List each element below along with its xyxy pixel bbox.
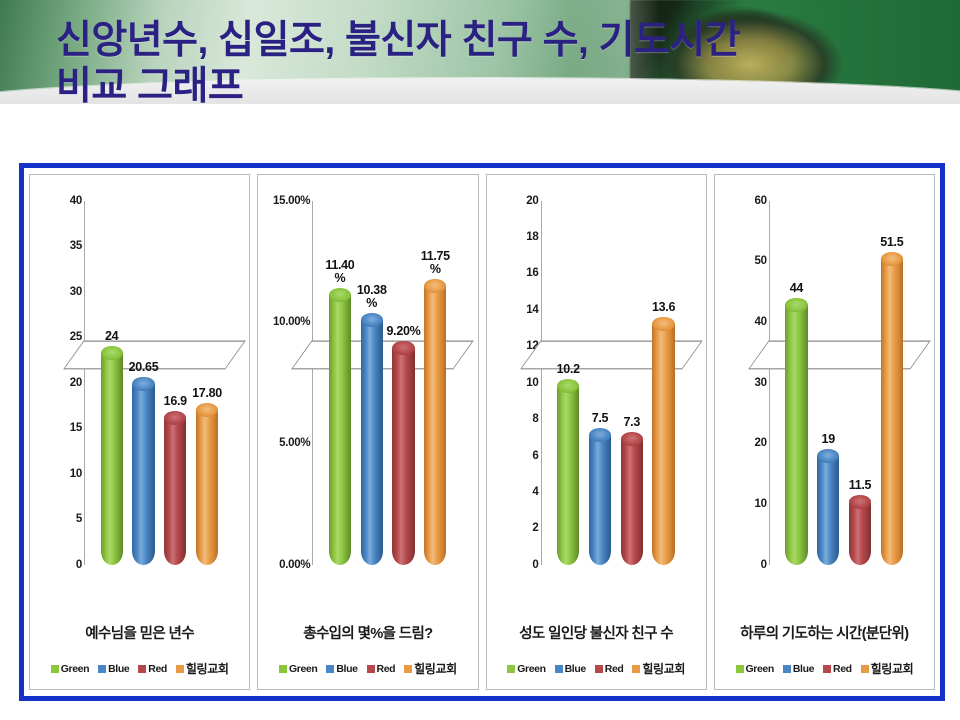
legend-item-Red[interactable]: Red <box>595 663 624 675</box>
legend-item-Red[interactable]: Red <box>367 663 396 675</box>
legend-label: 힐링교회 <box>414 660 457 677</box>
bar-body <box>361 320 383 565</box>
legend-item-Green[interactable]: Green <box>736 663 774 675</box>
legend-swatch-icon <box>138 665 146 673</box>
legend-swatch-icon <box>98 665 106 673</box>
legend-label: 힐링교회 <box>871 660 914 677</box>
x-axis-caption: 하루의 기도하는 시간(분단위) <box>715 622 934 643</box>
chart-panel-4[interactable]: 6050403020100441911.551.5하루의 기도하는 시간(분단위… <box>714 174 935 690</box>
legend-label: Green <box>289 663 317 675</box>
chart-legend: GreenBlueRed힐링교회 <box>715 660 934 677</box>
bar-cap <box>329 288 351 302</box>
bar-series: 441911.551.5 <box>715 175 934 601</box>
bar-value-label: 10.2 <box>557 362 580 376</box>
bar-힐링교회[interactable]: 17.80 <box>196 403 218 565</box>
bar-Blue[interactable]: 7.5 <box>589 428 611 565</box>
bar-cap <box>132 377 154 391</box>
bar-value-label: 11.5 <box>849 478 871 492</box>
bar-body <box>557 386 579 565</box>
legend-item-힐링교회[interactable]: 힐링교회 <box>632 660 685 677</box>
legend-item-Blue[interactable]: Blue <box>783 663 814 675</box>
chart-panel-2[interactable]: 15.00%10.00%5.00%0.00%11.40 %10.38 %9.20… <box>257 174 478 690</box>
bar-series: 11.40 %10.38 %9.20%11.75 % <box>258 175 477 601</box>
bar-body <box>101 353 123 565</box>
legend-label: Green <box>517 663 545 675</box>
legend-item-힐링교회[interactable]: 힐링교회 <box>861 660 914 677</box>
bar-힐링교회[interactable]: 11.75 % <box>424 279 446 564</box>
bar-value-label: 9.20% <box>387 324 421 338</box>
chart-legend: GreenBlueRed힐링교회 <box>258 660 477 677</box>
legend-swatch-icon <box>507 665 515 673</box>
legend-label: Blue <box>565 663 586 675</box>
bar-body <box>652 324 674 565</box>
bar-Blue[interactable]: 19 <box>817 449 839 564</box>
bar-series: 2420.6516.917.80 <box>30 175 249 601</box>
legend-label: Blue <box>336 663 357 675</box>
chart-group: 40353025201510502420.6516.917.80예수님을 믿은 … <box>19 163 945 701</box>
legend-item-Red[interactable]: Red <box>823 663 852 675</box>
legend-swatch-icon <box>367 665 375 673</box>
chart-legend: GreenBlueRed힐링교회 <box>30 660 249 677</box>
bar-cap <box>196 403 218 417</box>
legend-label: Green <box>61 663 89 675</box>
legend-label: 힐링교회 <box>186 660 229 677</box>
bar-body <box>817 456 839 564</box>
bar-힐링교회[interactable]: 51.5 <box>881 252 903 565</box>
bar-Green[interactable]: 24 <box>101 346 123 565</box>
bar-Blue[interactable]: 10.38 % <box>361 313 383 565</box>
chart-legend: GreenBlueRed힐링교회 <box>487 660 706 677</box>
bar-cap <box>785 298 807 312</box>
bar-value-label: 16.9 <box>164 394 187 408</box>
legend-item-Green[interactable]: Green <box>279 663 317 675</box>
bar-value-label: 7.5 <box>592 411 608 425</box>
legend-swatch-icon <box>595 665 603 673</box>
legend-label: 힐링교회 <box>642 660 685 677</box>
bar-series: 10.27.57.313.6 <box>487 175 706 601</box>
bar-body <box>881 259 903 565</box>
bar-value-label: 44 <box>790 281 803 295</box>
legend-swatch-icon <box>736 665 744 673</box>
x-axis-caption: 예수님을 믿은 년수 <box>30 622 249 643</box>
bar-value-label: 11.40 % <box>319 259 361 285</box>
legend-swatch-icon <box>404 665 412 673</box>
legend-item-힐링교회[interactable]: 힐링교회 <box>404 660 457 677</box>
plot-area: 2018161412108642010.27.57.313.6 <box>487 175 706 601</box>
bar-Red[interactable]: 11.5 <box>849 495 871 565</box>
bar-body <box>392 348 414 564</box>
bar-value-label: 20.65 <box>129 360 159 374</box>
bar-value-label: 13.6 <box>652 300 675 314</box>
bar-cap <box>361 313 383 327</box>
bar-cap <box>621 432 643 446</box>
legend-item-Blue[interactable]: Blue <box>555 663 586 675</box>
bar-body <box>164 418 186 565</box>
bar-Blue[interactable]: 20.65 <box>132 377 154 565</box>
bar-value-label: 7.3 <box>624 415 640 429</box>
bar-Green[interactable]: 10.2 <box>557 379 579 565</box>
bar-value-label: 11.75 % <box>414 250 456 276</box>
chart-panel-3[interactable]: 2018161412108642010.27.57.313.6성도 일인당 불신… <box>486 174 707 690</box>
legend-swatch-icon <box>823 665 831 673</box>
legend-label: Green <box>746 663 774 675</box>
plot-area: 6050403020100441911.551.5 <box>715 175 934 601</box>
bar-body <box>132 384 154 565</box>
x-axis-caption: 성도 일인당 불신자 친구 수 <box>487 622 706 643</box>
bar-value-label: 10.38 % <box>351 284 393 310</box>
legend-item-Green[interactable]: Green <box>507 663 545 675</box>
legend-label: Red <box>377 663 396 675</box>
page-title: 신앙년수, 십일조, 불신자 친구 수, 기도시간 비교 그래프 <box>56 18 916 110</box>
legend-item-Blue[interactable]: Blue <box>98 663 129 675</box>
bar-Red[interactable]: 9.20% <box>392 341 414 564</box>
bar-body <box>785 305 807 565</box>
legend-label: Red <box>148 663 167 675</box>
legend-item-Red[interactable]: Red <box>138 663 167 675</box>
legend-swatch-icon <box>326 665 334 673</box>
legend-label: Blue <box>793 663 814 675</box>
bar-body <box>589 435 611 565</box>
legend-swatch-icon <box>51 665 59 673</box>
bar-value-label: 51.5 <box>880 235 903 249</box>
legend-swatch-icon <box>861 665 869 673</box>
legend-swatch-icon <box>632 665 640 673</box>
legend-item-힐링교회[interactable]: 힐링교회 <box>176 660 229 677</box>
x-axis-caption: 총수입의 몇%을 드림? <box>258 622 477 643</box>
legend-swatch-icon <box>176 665 184 673</box>
chart-panel-1[interactable]: 40353025201510502420.6516.917.80예수님을 믿은 … <box>29 174 250 690</box>
bar-Green[interactable]: 11.40 % <box>329 288 351 565</box>
bar-body <box>849 502 871 565</box>
bar-body <box>424 286 446 564</box>
legend-swatch-icon <box>279 665 287 673</box>
bar-body <box>196 410 218 565</box>
plot-area: 15.00%10.00%5.00%0.00%11.40 %10.38 %9.20… <box>258 175 477 601</box>
bar-cap <box>849 495 871 509</box>
bar-value-label: 19 <box>822 432 835 446</box>
legend-label: Blue <box>108 663 129 675</box>
bar-Green[interactable]: 44 <box>785 298 807 565</box>
bar-cap <box>101 346 123 360</box>
legend-swatch-icon <box>555 665 563 673</box>
legend-item-Green[interactable]: Green <box>51 663 89 675</box>
legend-label: Red <box>605 663 624 675</box>
bar-cap <box>652 317 674 331</box>
legend-swatch-icon <box>783 665 791 673</box>
bar-value-label: 17.80 <box>192 386 222 400</box>
legend-label: Red <box>833 663 852 675</box>
bar-body <box>329 295 351 565</box>
bar-Red[interactable]: 16.9 <box>164 411 186 565</box>
plot-area: 40353025201510502420.6516.917.80 <box>30 175 249 601</box>
slide: 신앙년수, 십일조, 불신자 친구 수, 기도시간 비교 그래프 4035302… <box>0 0 960 720</box>
bar-value-label: 24 <box>105 329 118 343</box>
bar-cap <box>881 252 903 266</box>
bar-힐링교회[interactable]: 13.6 <box>652 317 674 565</box>
bar-body <box>621 439 643 565</box>
legend-item-Blue[interactable]: Blue <box>326 663 357 675</box>
bar-Red[interactable]: 7.3 <box>621 432 643 565</box>
